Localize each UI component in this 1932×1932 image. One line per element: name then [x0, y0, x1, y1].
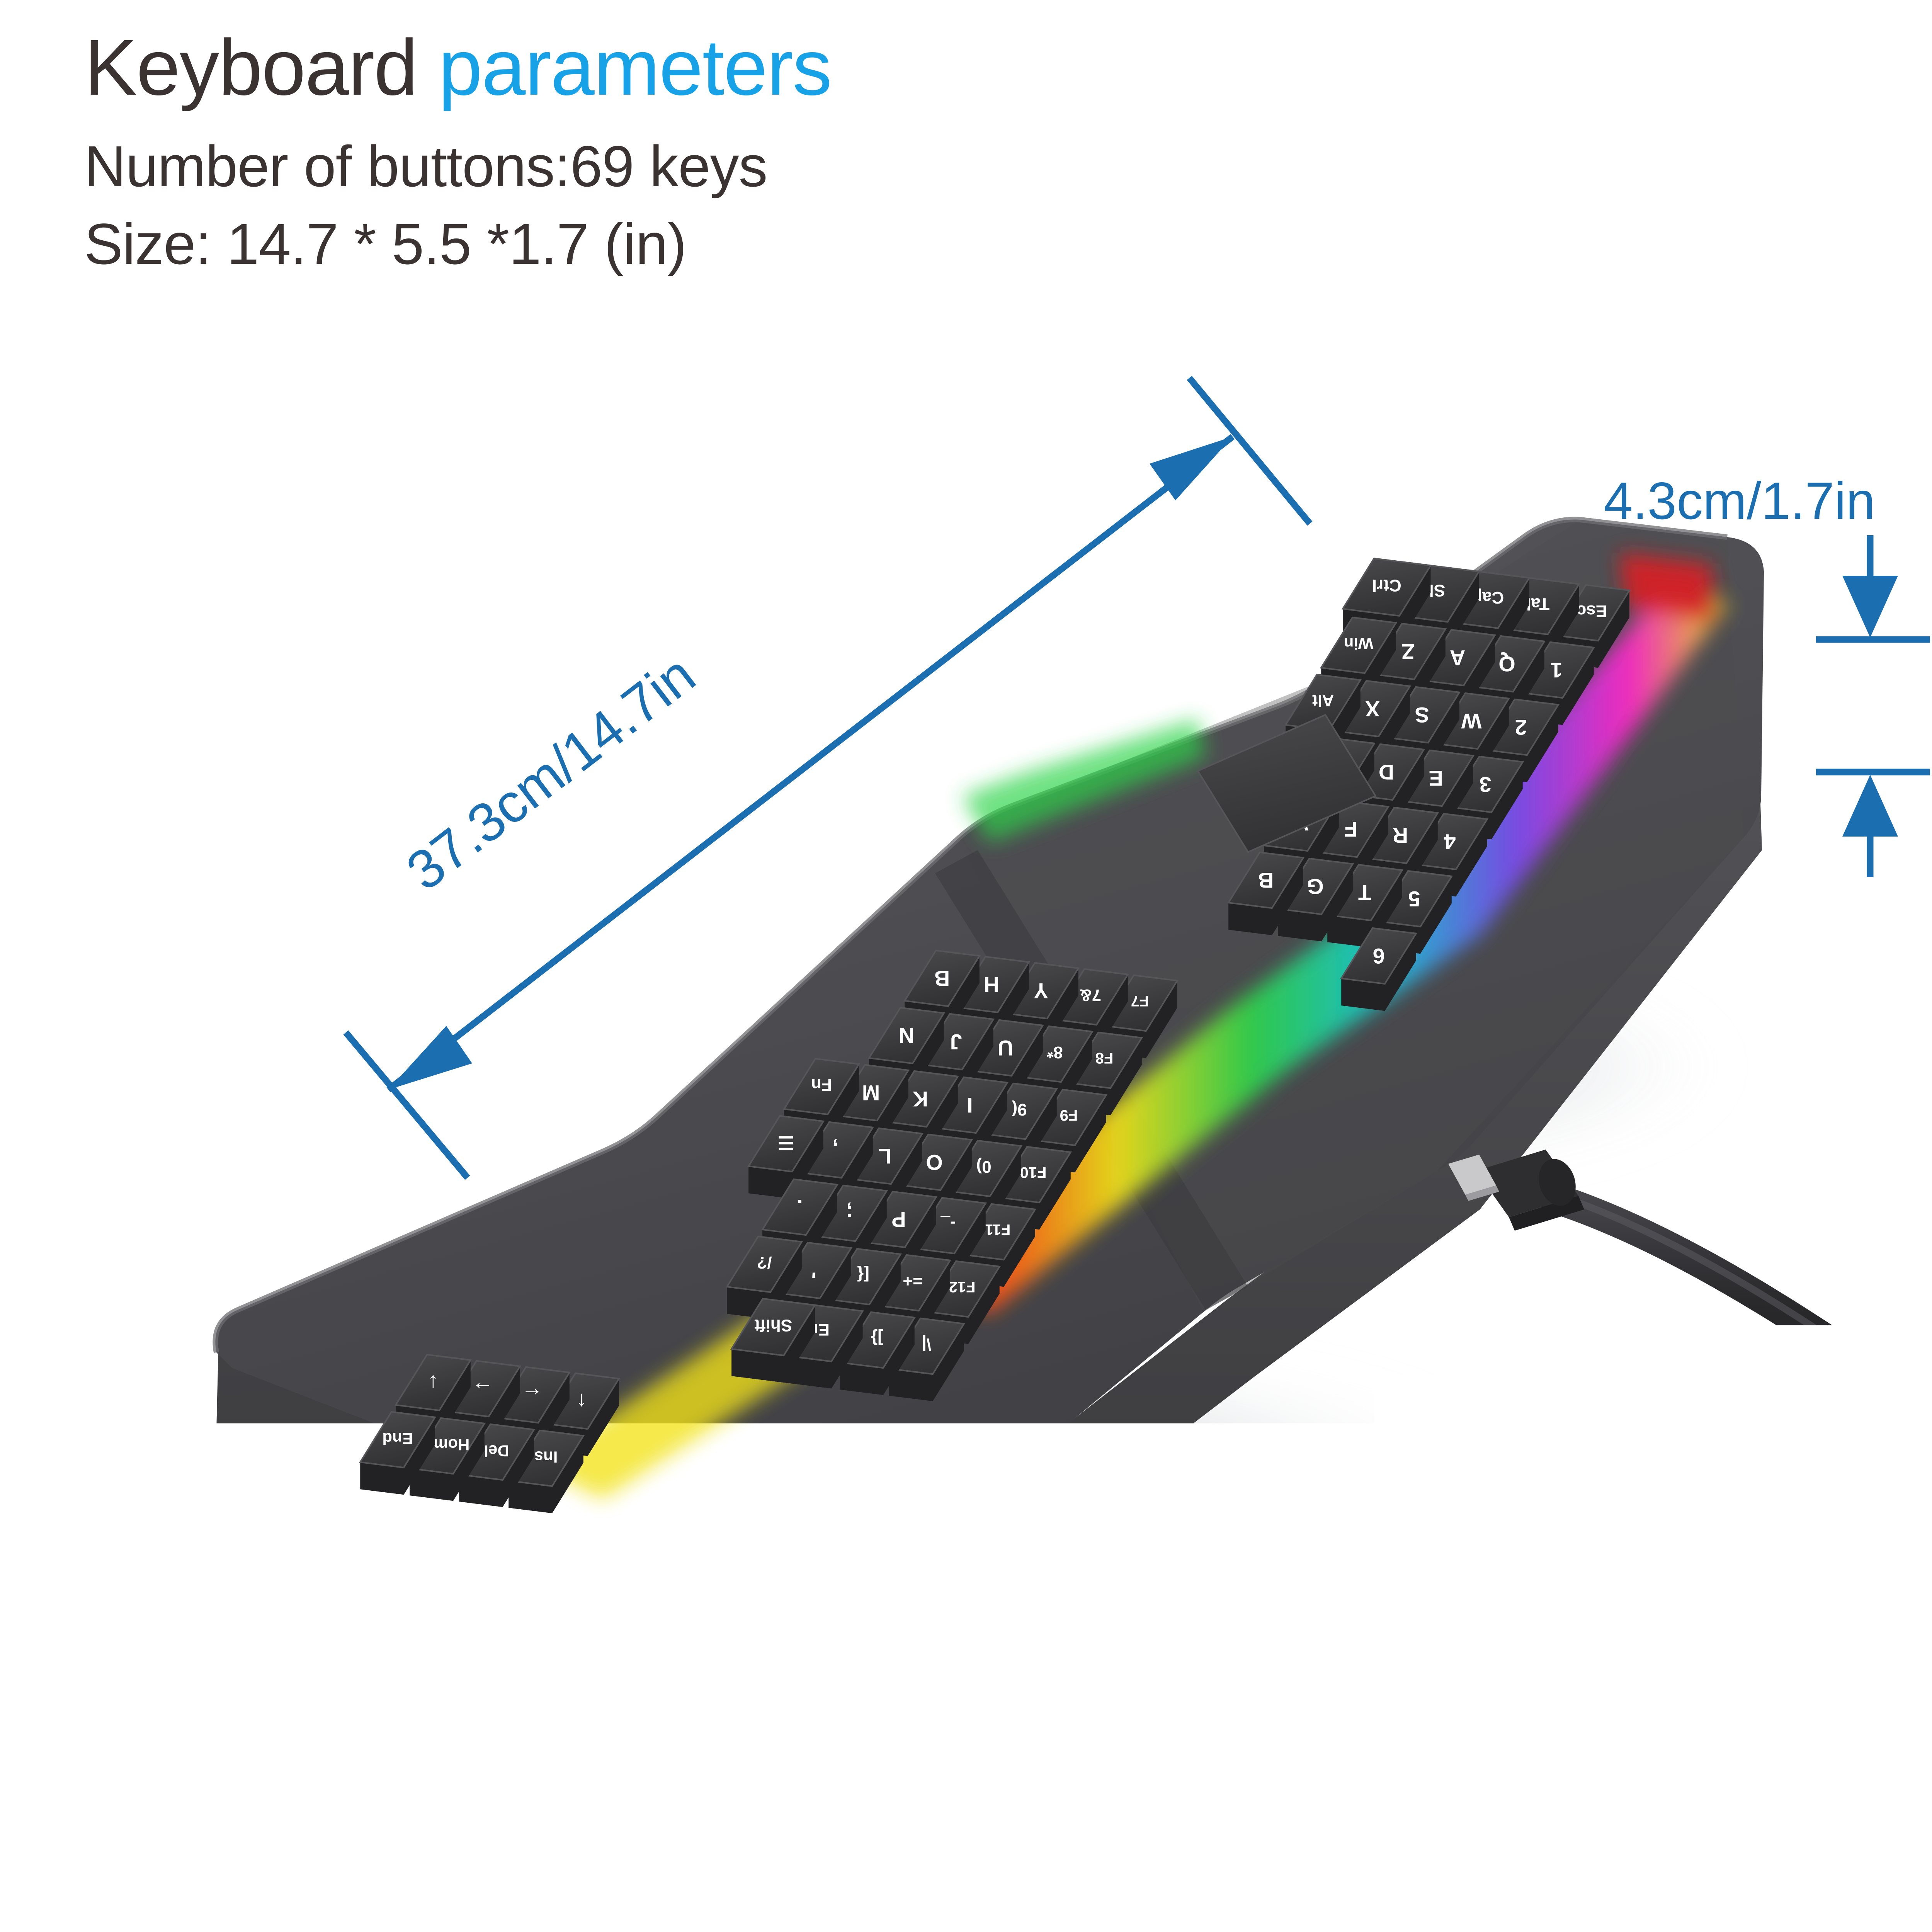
keycap-legend: 0): [976, 1157, 991, 1176]
keycap-legend: Q: [1498, 652, 1515, 676]
keycap-legend: Ins: [534, 1448, 558, 1466]
keycap-legend: Shift: [754, 1316, 792, 1335]
keycap-legend: F9: [1060, 1107, 1078, 1124]
keycap-legend: P: [891, 1207, 906, 1232]
keycap-legend: ;: [846, 1201, 853, 1226]
keycap-legend: 9(: [1012, 1100, 1027, 1119]
keyboard-illustration: EscTabCapsShiftCtrl1QAZWin2WSXAlt3EDC4RF…: [0, 0, 1932, 1932]
keycap-legend: H: [984, 973, 999, 997]
keycap-legend: W: [1461, 709, 1481, 733]
keycap-legend: T: [1358, 881, 1371, 905]
keycap-legend: F11: [985, 1221, 1011, 1238]
keycap-legend: ↑: [576, 1389, 587, 1414]
page-title: Keyboard parameters: [84, 28, 1398, 107]
keycap-legend: F7: [1131, 992, 1149, 1009]
keycap-legend: D: [1379, 760, 1394, 784]
keycap-legend: M: [862, 1081, 880, 1105]
keycap-legend: Del: [484, 1442, 509, 1460]
keycap-legend: N: [899, 1024, 914, 1048]
keycap-legend: X: [1365, 697, 1379, 721]
keycap-legend: Alt: [1312, 692, 1334, 710]
keycap-legend: B: [1258, 868, 1274, 893]
keycap-legend: ↓: [428, 1371, 439, 1395]
keycap-legend: ]}: [871, 1329, 883, 1348]
keycap-legend: E: [1429, 766, 1443, 791]
keycap-legend: -_: [940, 1214, 956, 1233]
dimension-label-height: 4.3cm/1.7in: [1604, 471, 1875, 531]
keycap-legend: .: [797, 1195, 803, 1219]
keycap-legend: Ctrl: [1372, 576, 1401, 595]
keycap-legend: /?: [757, 1253, 772, 1272]
spec-button-count: Number of buttons:69 keys: [84, 129, 1398, 204]
keycap-legend: R: [1393, 823, 1408, 848]
keycap-legend: 1: [1550, 658, 1562, 682]
keycap-legend: U: [998, 1036, 1013, 1060]
keycap-legend: S: [1415, 703, 1429, 727]
keycap-legend: Fn: [811, 1075, 832, 1094]
keycap-legend: 2: [1515, 715, 1527, 740]
keycap-legend: [{: [857, 1265, 869, 1284]
keycap-legend: J: [950, 1030, 962, 1054]
keycap-legend: ←: [521, 1383, 543, 1408]
keycap-legend: F12: [949, 1278, 976, 1295]
product-infographic: EscTabCapsShiftCtrl1QAZWin2WSXAlt3EDC4RF…: [0, 0, 1932, 1932]
keycap-legend: I: [967, 1093, 973, 1117]
title-main: Keyboard: [84, 23, 439, 112]
keycap-legend: =+: [903, 1272, 922, 1291]
title-accent: parameters: [439, 23, 832, 112]
keycap-legend: ,: [832, 1138, 838, 1162]
keycap-legend: 8*: [1046, 1043, 1063, 1062]
keycap-legend: →: [472, 1377, 493, 1401]
keycap-legend: O: [926, 1150, 943, 1175]
keycap-legend: F8: [1095, 1049, 1114, 1066]
keycap-legend: 4: [1444, 830, 1456, 854]
keycap-legend: 6: [1372, 944, 1384, 968]
usb-cable: [1448, 1150, 1932, 1453]
keycap-legend: End: [382, 1429, 413, 1447]
keycap-legend: F10: [1020, 1164, 1047, 1181]
keycap-legend: 3: [1479, 772, 1491, 797]
spec-size: Size: 14.7 * 5.5 *1.7 (in): [84, 206, 1398, 282]
keycap-legend: ': [811, 1259, 816, 1283]
keycap-legend: K: [913, 1087, 928, 1111]
keycap-legend: Win: [1344, 634, 1374, 653]
keycap-legend: ☰: [777, 1132, 794, 1153]
keycap-legend: G: [1307, 874, 1324, 899]
keycap-legend: Esc: [1577, 602, 1607, 621]
keycap-legend: F: [1344, 817, 1357, 842]
heading-block: Keyboard parameters Number of buttons:69…: [84, 28, 1398, 282]
keycap-legend: 5: [1408, 887, 1420, 911]
keycap-legend: Z: [1401, 639, 1415, 664]
keycap-legend: A: [1450, 646, 1465, 670]
keycap-legend: Y: [1034, 979, 1048, 1003]
keycap-legend: B: [934, 966, 950, 991]
keycap-legend: L: [878, 1144, 891, 1168]
keycap-legend: \|: [922, 1335, 932, 1354]
keycap-legend: 7&: [1080, 986, 1101, 1005]
